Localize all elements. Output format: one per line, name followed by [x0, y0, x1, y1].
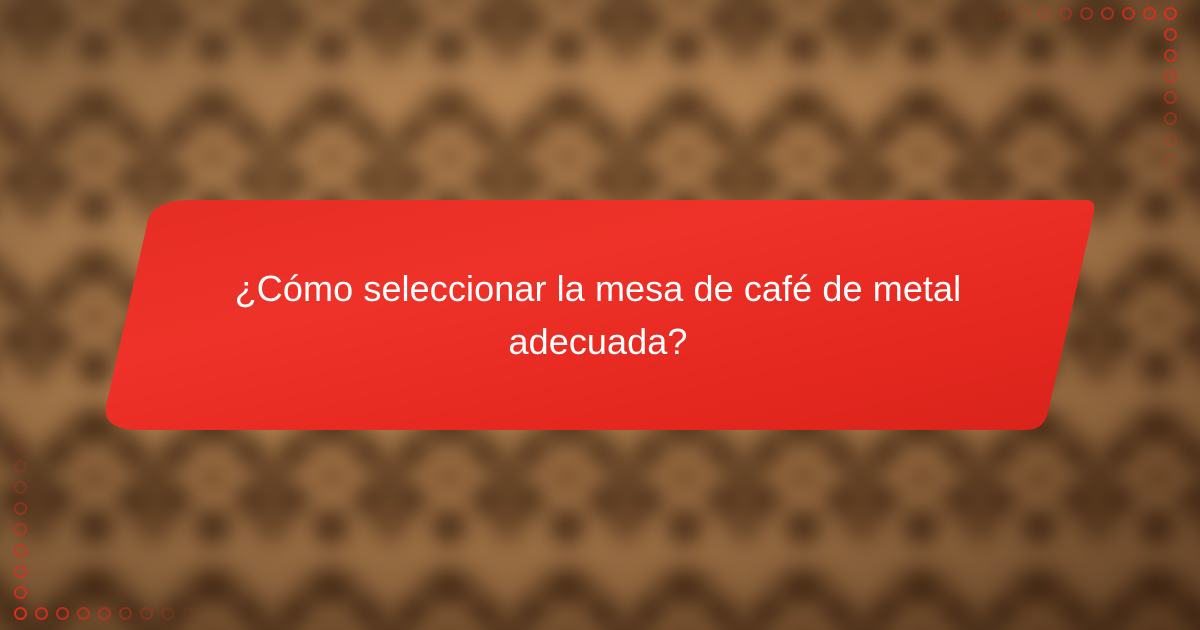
- decor-circle: [14, 586, 27, 599]
- decor-circle: [1059, 7, 1072, 20]
- decor-circle: [1143, 7, 1156, 20]
- decor-circle: [161, 607, 174, 620]
- decor-circle: [14, 607, 27, 620]
- decor-circle: [1164, 49, 1177, 62]
- decor-circle: [14, 565, 27, 578]
- decor-circle: [1164, 28, 1177, 41]
- top-right-circle-cluster: [1000, 0, 1200, 210]
- decor-circle: [14, 481, 27, 494]
- decor-circle: [14, 439, 27, 452]
- decor-circle: [56, 607, 69, 620]
- decor-circle: [35, 607, 48, 620]
- bottom-left-circle-cluster: [0, 420, 200, 630]
- decor-circle: [1122, 7, 1135, 20]
- decor-circle: [98, 607, 111, 620]
- decor-circle: [1164, 112, 1177, 125]
- decor-circle: [1038, 7, 1051, 20]
- decor-circle: [119, 607, 132, 620]
- decor-circle: [14, 523, 27, 536]
- decor-circle: [77, 607, 90, 620]
- banner-canvas: ¿Cómo seleccionar la mesa de café de met…: [0, 0, 1200, 630]
- decor-circle: [1080, 7, 1093, 20]
- decor-circle: [1101, 7, 1114, 20]
- decor-circle: [182, 607, 195, 620]
- headline-banner: ¿Cómo seleccionar la mesa de café de met…: [100, 198, 1096, 432]
- decor-circle: [1017, 7, 1030, 20]
- decor-circle: [14, 502, 27, 515]
- decor-circle: [14, 544, 27, 557]
- decor-circle: [1164, 133, 1177, 146]
- banner-headline-text: ¿Cómo seleccionar la mesa de café de met…: [100, 198, 1096, 432]
- decor-circle: [1164, 70, 1177, 83]
- decor-circle: [1164, 7, 1177, 20]
- decor-circle: [996, 7, 1009, 20]
- decor-circle: [1164, 91, 1177, 104]
- decor-circle: [1164, 154, 1177, 167]
- decor-circle: [14, 460, 27, 473]
- decor-circle: [140, 607, 153, 620]
- decor-circle: [1164, 175, 1177, 188]
